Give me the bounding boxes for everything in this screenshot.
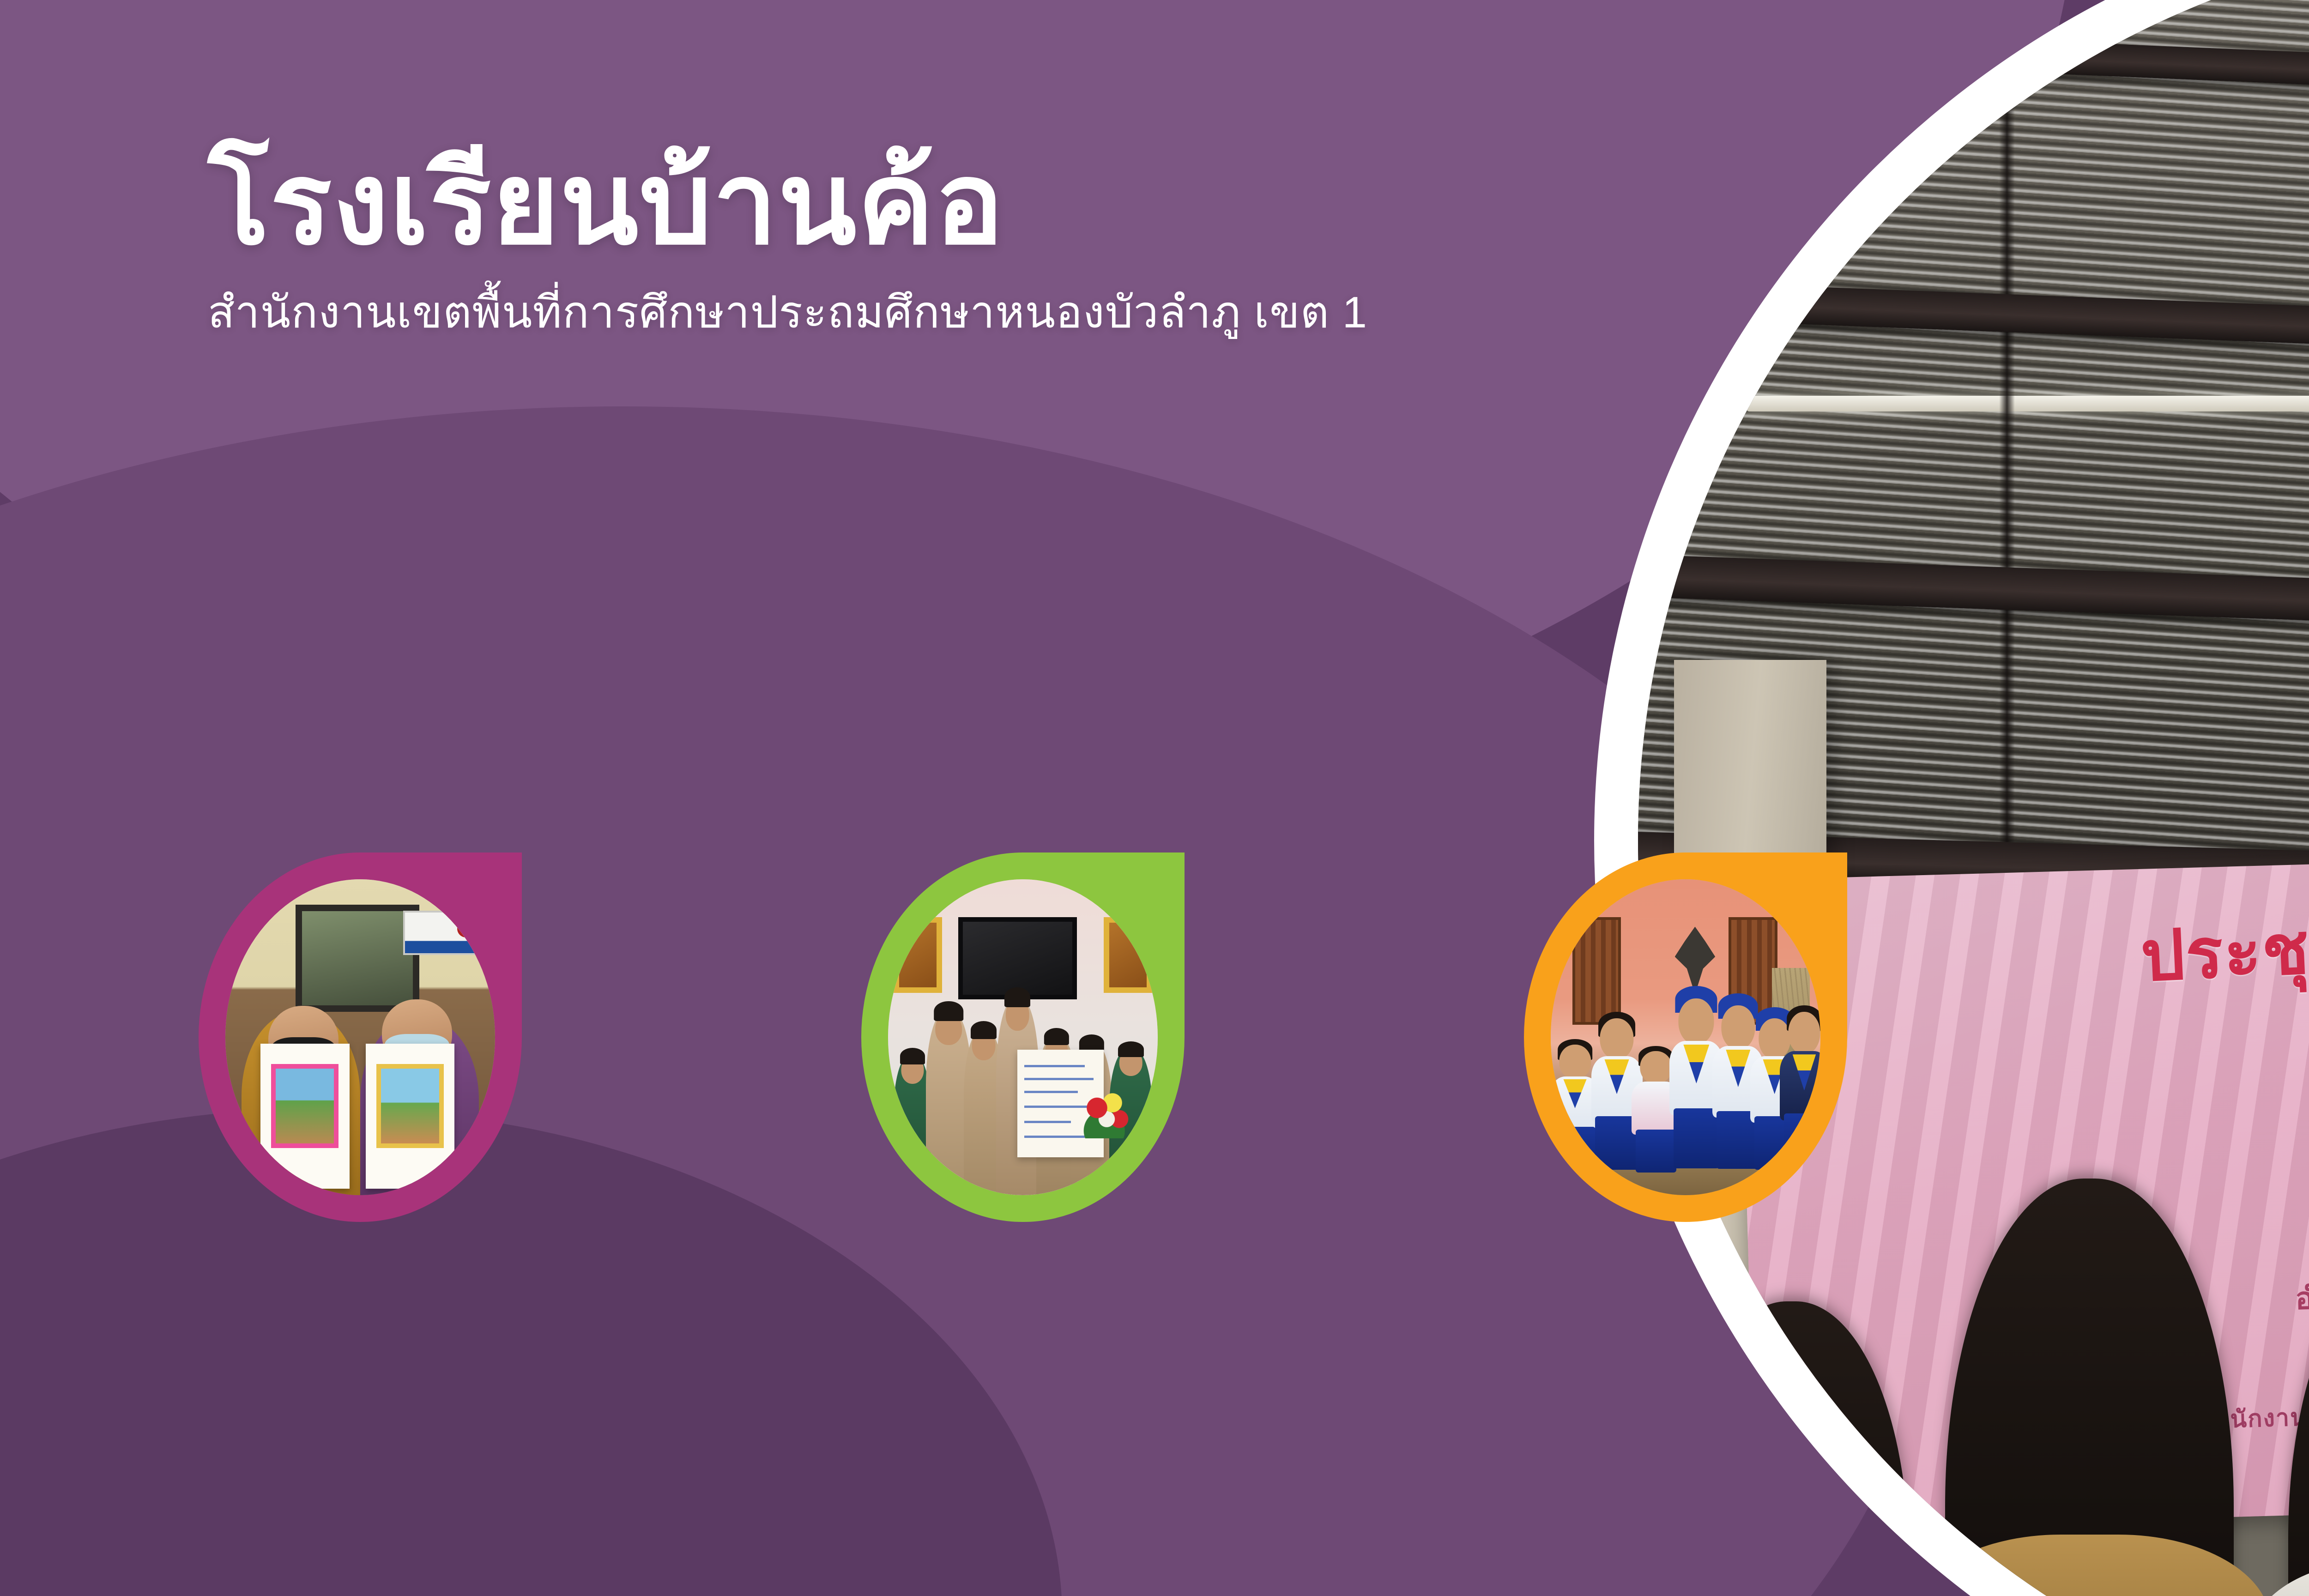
hero-photo: ประชุมผู้ปกครองนักเรียน โรงเรียนบ้านค้อ …: [1638, 0, 2309, 1596]
school-banner: ประชุมผู้ปกครองนักเรียน โรงเรียนบ้านค้อ …: [0, 0, 2309, 1596]
thumbnail-scout-presentation[interactable]: [861, 852, 1185, 1222]
thumbnail-strip: [199, 852, 1847, 1222]
hero-photo-scene: ประชุมผู้ปกครองนักเรียน โรงเรียนบ้านค้อ …: [1638, 0, 2309, 1596]
page-subtitle: สำนักงานเขตพื้นที่การศึกษาประถมศึกษาหนอง…: [208, 277, 1367, 347]
page-title: โรงเรียนบ้านค้อ: [208, 143, 1367, 263]
thumbnail-kindergarten-scouts[interactable]: [1524, 852, 1847, 1222]
thumbnail-photo: [1551, 879, 1820, 1195]
thumbnail-photo: [888, 879, 1158, 1195]
thumbnail-students-artwork[interactable]: [199, 852, 522, 1222]
headline-block: โรงเรียนบ้านค้อ สำนักงานเขตพื้นที่การศึก…: [208, 143, 1367, 347]
thumbnail-photo: [225, 879, 495, 1195]
hero-photo-arc-frame: ประชุมผู้ปกครองนักเรียน โรงเรียนบ้านค้อ …: [1594, 0, 2309, 1596]
